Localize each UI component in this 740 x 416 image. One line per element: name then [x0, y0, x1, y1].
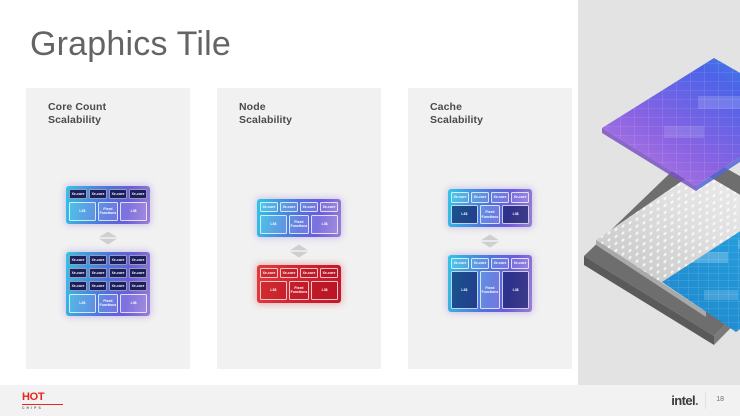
page-title: Graphics Tile	[30, 26, 231, 63]
xe-core-cell: Xe-core	[280, 202, 298, 213]
l3-cache-cell: L3$	[502, 271, 528, 309]
panel-heading: Cache Scalability	[430, 101, 483, 127]
l3-cache-cell: L3$	[120, 202, 146, 221]
chip-inner: Xe-coreXe-coreXe-coreXe-coreL3$Fixed Fun…	[260, 202, 338, 234]
chip-cache-large: Xe-coreXe-coreXe-coreXe-coreL3$Fixed Fun…	[448, 255, 532, 312]
xe-core-row: Xe-coreXe-coreXe-coreXe-core	[260, 268, 338, 279]
footer-divider	[705, 392, 706, 409]
xe-core-cell: Xe-core	[69, 281, 87, 292]
l3-cache-cell: L3$	[451, 205, 477, 224]
intel-logo-text: intel	[671, 393, 695, 408]
xe-core-cell: Xe-core	[89, 189, 107, 200]
fixed-functions-cell: Fixed Functions	[289, 215, 309, 234]
fixed-functions-cell: Fixed Functions	[289, 281, 309, 300]
l3-cache-cell: L3$	[69, 202, 95, 221]
xe-core-cell: Xe-core	[511, 192, 529, 203]
fixed-functions-cell: Fixed Functions	[480, 205, 500, 224]
xe-core-cell: Xe-core	[451, 258, 469, 269]
chip-node-red: Xe-coreXe-coreXe-coreXe-coreL3$Fixed Fun…	[257, 265, 341, 303]
slide-footer: HOT CHIPS intel. 18	[0, 385, 740, 416]
xe-core-cell: Xe-core	[129, 255, 147, 266]
intel-logo: intel.	[671, 393, 698, 408]
page-number: 18	[716, 396, 724, 403]
xe-core-row: Xe-coreXe-coreXe-coreXe-core	[260, 202, 338, 213]
scaling-arrow-separator	[289, 244, 309, 258]
l3-cache-cell: L3$	[120, 294, 146, 313]
xe-core-row: Xe-coreXe-coreXe-coreXe-core	[451, 258, 529, 269]
xe-core-cell: Xe-core	[300, 202, 318, 213]
l3-cache-cell: L3$	[260, 281, 286, 300]
hotchips-logo: HOT CHIPS	[22, 392, 66, 410]
scaling-arrow-separator	[98, 231, 118, 245]
chip-block: Xe-coreXe-coreXe-coreXe-coreL3$Fixed Fun…	[448, 255, 532, 312]
panel-body: Xe-coreXe-coreXe-coreXe-coreL3$Fixed Fun…	[26, 146, 190, 355]
chip-bottom-row: L3$Fixed FunctionsL3$	[451, 271, 529, 309]
panel-heading: Node Scalability	[239, 101, 292, 127]
chip-bottom-row: L3$Fixed FunctionsL3$	[69, 294, 147, 313]
xe-core-cell: Xe-core	[300, 268, 318, 279]
l3-cache-cell: L3$	[260, 215, 286, 234]
hotchips-logo-rule	[22, 404, 63, 405]
chip-inner: Xe-coreXe-coreXe-coreXe-coreL3$Fixed Fun…	[451, 192, 529, 224]
xe-core-cell: Xe-core	[109, 268, 127, 279]
panel-core-count-scalability: Core Count Scalability Xe-coreXe-coreXe-…	[26, 88, 190, 369]
xe-core-cell: Xe-core	[511, 258, 529, 269]
xe-core-cell: Xe-core	[109, 255, 127, 266]
chip-inner: Xe-coreXe-coreXe-coreXe-coreL3$Fixed Fun…	[260, 268, 338, 300]
chip-cache-small: Xe-coreXe-coreXe-coreXe-coreL3$Fixed Fun…	[448, 189, 532, 227]
hotchips-logo-top: HOT	[22, 392, 66, 403]
xe-core-cell: Xe-core	[471, 192, 489, 203]
l3-cache-cell: L3$	[502, 205, 528, 224]
xe-core-row: Xe-coreXe-coreXe-coreXe-core	[69, 189, 147, 200]
xe-core-row: Xe-coreXe-coreXe-coreXe-core	[69, 281, 147, 292]
xe-core-row: Xe-coreXe-coreXe-coreXe-core	[69, 268, 147, 279]
die-stack-illustration	[578, 0, 740, 385]
xe-core-cell: Xe-core	[129, 189, 147, 200]
intel-logo-dot: .	[695, 393, 698, 408]
xe-core-cell: Xe-core	[69, 189, 87, 200]
xe-core-cell: Xe-core	[89, 255, 107, 266]
panel-body: Xe-coreXe-coreXe-coreXe-coreL3$Fixed Fun…	[408, 146, 572, 355]
xe-core-cell: Xe-core	[260, 268, 278, 279]
chip-block: Xe-coreXe-coreXe-coreXe-coreL3$Fixed Fun…	[448, 189, 532, 227]
xe-core-cell: Xe-core	[129, 268, 147, 279]
exploded-die-stack-svg	[578, 0, 740, 385]
chip-block: Xe-coreXe-coreXe-coreXe-coreXe-coreXe-co…	[66, 252, 150, 316]
double-chevron-icon	[480, 234, 500, 248]
xe-core-cell: Xe-core	[491, 258, 509, 269]
chip-bottom-row: L3$Fixed FunctionsL3$	[451, 205, 529, 224]
chip-inner: Xe-coreXe-coreXe-coreXe-coreXe-coreXe-co…	[69, 255, 147, 313]
chip-core-count-small: Xe-coreXe-coreXe-coreXe-coreL3$Fixed Fun…	[66, 186, 150, 224]
panel-group: Core Count Scalability Xe-coreXe-coreXe-…	[26, 88, 572, 373]
double-chevron-icon	[289, 244, 309, 258]
panel-node-scalability: Node Scalability Xe-coreXe-coreXe-coreXe…	[217, 88, 381, 369]
xe-core-cell: Xe-core	[320, 268, 338, 279]
l3-cache-cell: L3$	[451, 271, 477, 309]
double-chevron-icon	[98, 231, 118, 245]
xe-core-cell: Xe-core	[280, 268, 298, 279]
l3-cache-cell: L3$	[69, 294, 95, 313]
panel-body: Xe-coreXe-coreXe-coreXe-coreL3$Fixed Fun…	[217, 146, 381, 355]
xe-core-cell: Xe-core	[260, 202, 278, 213]
xe-core-cell: Xe-core	[69, 255, 87, 266]
xe-core-row: Xe-coreXe-coreXe-coreXe-core	[451, 192, 529, 203]
xe-core-cell: Xe-core	[129, 281, 147, 292]
chip-block: Xe-coreXe-coreXe-coreXe-coreL3$Fixed Fun…	[257, 265, 341, 303]
chip-bottom-row: L3$Fixed FunctionsL3$	[260, 215, 338, 234]
fixed-functions-cell: Fixed Functions	[480, 271, 500, 309]
chip-block: Xe-coreXe-coreXe-coreXe-coreL3$Fixed Fun…	[66, 186, 150, 224]
xe-core-cell: Xe-core	[451, 192, 469, 203]
xe-core-row: Xe-coreXe-coreXe-coreXe-core	[69, 255, 147, 266]
scaling-arrow-separator	[480, 234, 500, 248]
l3-cache-cell: L3$	[311, 215, 337, 234]
slide-root: Graphics Tile Core Count Scalability Xe-…	[0, 0, 740, 416]
xe-core-cell: Xe-core	[89, 268, 107, 279]
xe-core-cell: Xe-core	[109, 281, 127, 292]
l3-cache-cell: L3$	[311, 281, 337, 300]
xe-core-cell: Xe-core	[491, 192, 509, 203]
xe-core-cell: Xe-core	[69, 268, 87, 279]
hotchips-logo-bottom: CHIPS	[22, 406, 66, 410]
chip-inner: Xe-coreXe-coreXe-coreXe-coreL3$Fixed Fun…	[69, 189, 147, 221]
chip-core-count-large: Xe-coreXe-coreXe-coreXe-coreXe-coreXe-co…	[66, 252, 150, 316]
panel-heading: Core Count Scalability	[48, 101, 106, 127]
fixed-functions-cell: Fixed Functions	[98, 294, 118, 313]
chip-inner: Xe-coreXe-coreXe-coreXe-coreL3$Fixed Fun…	[451, 258, 529, 309]
chip-bottom-row: L3$Fixed FunctionsL3$	[260, 281, 338, 300]
chip-bottom-row: L3$Fixed FunctionsL3$	[69, 202, 147, 221]
xe-core-cell: Xe-core	[471, 258, 489, 269]
xe-core-cell: Xe-core	[89, 281, 107, 292]
chip-block: Xe-coreXe-coreXe-coreXe-coreL3$Fixed Fun…	[257, 199, 341, 237]
panel-cache-scalability: Cache Scalability Xe-coreXe-coreXe-coreX…	[408, 88, 572, 369]
xe-core-cell: Xe-core	[109, 189, 127, 200]
chip-node-blue: Xe-coreXe-coreXe-coreXe-coreL3$Fixed Fun…	[257, 199, 341, 237]
fixed-functions-cell: Fixed Functions	[98, 202, 118, 221]
xe-core-cell: Xe-core	[320, 202, 338, 213]
